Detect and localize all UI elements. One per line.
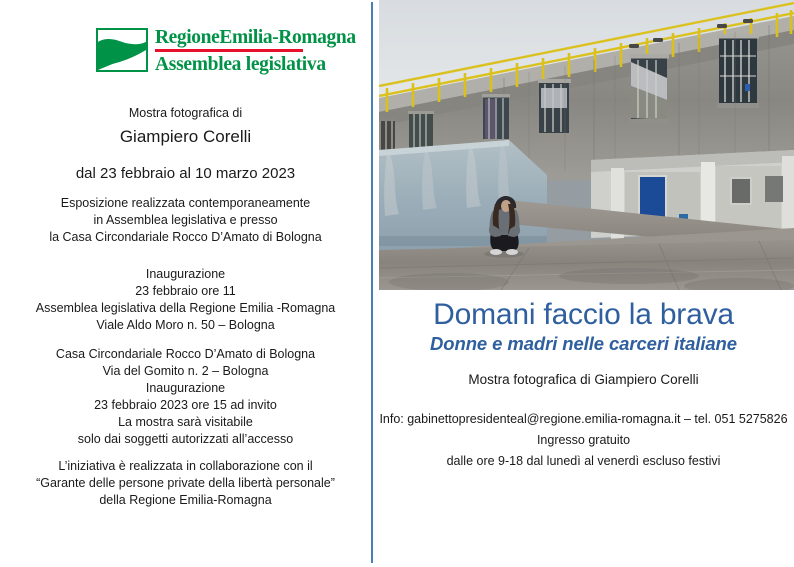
opening-prison-block: Casa Circondariale Rocco D’Amato di Bolo…	[0, 346, 371, 448]
info-contact-line: Info: gabinettopresidenteal@regione.emil…	[373, 409, 794, 430]
photo-credit: Mostra fotografica di Giampiero Corelli	[373, 372, 794, 387]
prison-courtyard-photo	[379, 0, 794, 290]
opening-prison-line-6: solo dai soggetti autorizzati all’access…	[0, 431, 371, 448]
title-block: Domani faccio la brava Donne e madri nel…	[373, 298, 794, 356]
opening-prison-line-5: La mostra sarà visitabile	[0, 414, 371, 431]
opening-prison-line-1: Casa Circondariale Rocco D’Amato di Bolo…	[0, 346, 371, 363]
exhibition-dates: dal 23 febbraio al 10 marzo 2023	[0, 165, 371, 182]
info-admission-line: Ingresso gratuito	[373, 430, 794, 451]
opening-prison-line-4: 23 febbraio 2023 ore 15 ad invito	[0, 397, 371, 414]
partnership-block: L’iniziativa è realizzata in collaborazi…	[0, 458, 371, 509]
opening-assembly-line-4: Viale Aldo Moro n. 50 – Bologna	[0, 317, 371, 334]
opening-assembly-line-2: 23 febbraio ore 11	[0, 283, 371, 300]
logo-wordmark: RegioneEmilia-Romagna Assemblea legislat…	[155, 27, 356, 75]
page-subtitle: Donne e madri nelle carceri italiane	[373, 332, 794, 356]
partnership-line-1: L’iniziativa è realizzata in collaborazi…	[0, 458, 371, 475]
partnership-line-3: della Regione Emilia-Romagna	[0, 492, 371, 509]
venues-intro-line-1: Esposizione realizzata contemporaneament…	[0, 195, 371, 212]
opening-assembly-line-1: Inaugurazione	[0, 266, 371, 283]
venues-intro-block: Esposizione realizzata contemporaneament…	[0, 195, 371, 246]
right-column: Domani faccio la brava Donne e madri nel…	[373, 0, 794, 567]
venues-intro-line-2: in Assemblea legislativa e presso	[0, 212, 371, 229]
venues-intro-line-3: la Casa Circondariale Rocco D’Amato di B…	[0, 229, 371, 246]
regione-emilia-romagna-logo: RegioneEmilia-Romagna Assemblea legislat…	[96, 27, 306, 81]
opening-assembly-block: Inaugurazione 23 febbraio ore 11 Assembl…	[0, 266, 371, 334]
exhibition-kicker: Mostra fotografica di	[0, 105, 371, 122]
flag-logo-icon	[96, 28, 148, 72]
logo-line-region: RegioneEmilia-Romagna	[155, 27, 356, 48]
author-name: Giampiero Corelli	[0, 128, 371, 145]
info-block: Info: gabinettopresidenteal@regione.emil…	[373, 409, 794, 472]
info-hours-line: dalle ore 9-18 dal lunedì al venerdì esc…	[373, 451, 794, 472]
opening-assembly-line-3: Assemblea legislativa della Regione Emil…	[0, 300, 371, 317]
left-column: RegioneEmilia-Romagna Assemblea legislat…	[0, 0, 371, 567]
page-title: Domani faccio la brava	[373, 298, 794, 332]
logo-line-assembly: Assemblea legislativa	[155, 54, 356, 75]
logo-red-rule	[155, 49, 303, 52]
poster-page: RegioneEmilia-Romagna Assemblea legislat…	[0, 0, 794, 567]
partnership-line-2: “Garante delle persone private della lib…	[0, 475, 371, 492]
opening-prison-line-3: Inaugurazione	[0, 380, 371, 397]
opening-prison-line-2: Via del Gomito n. 2 – Bologna	[0, 363, 371, 380]
